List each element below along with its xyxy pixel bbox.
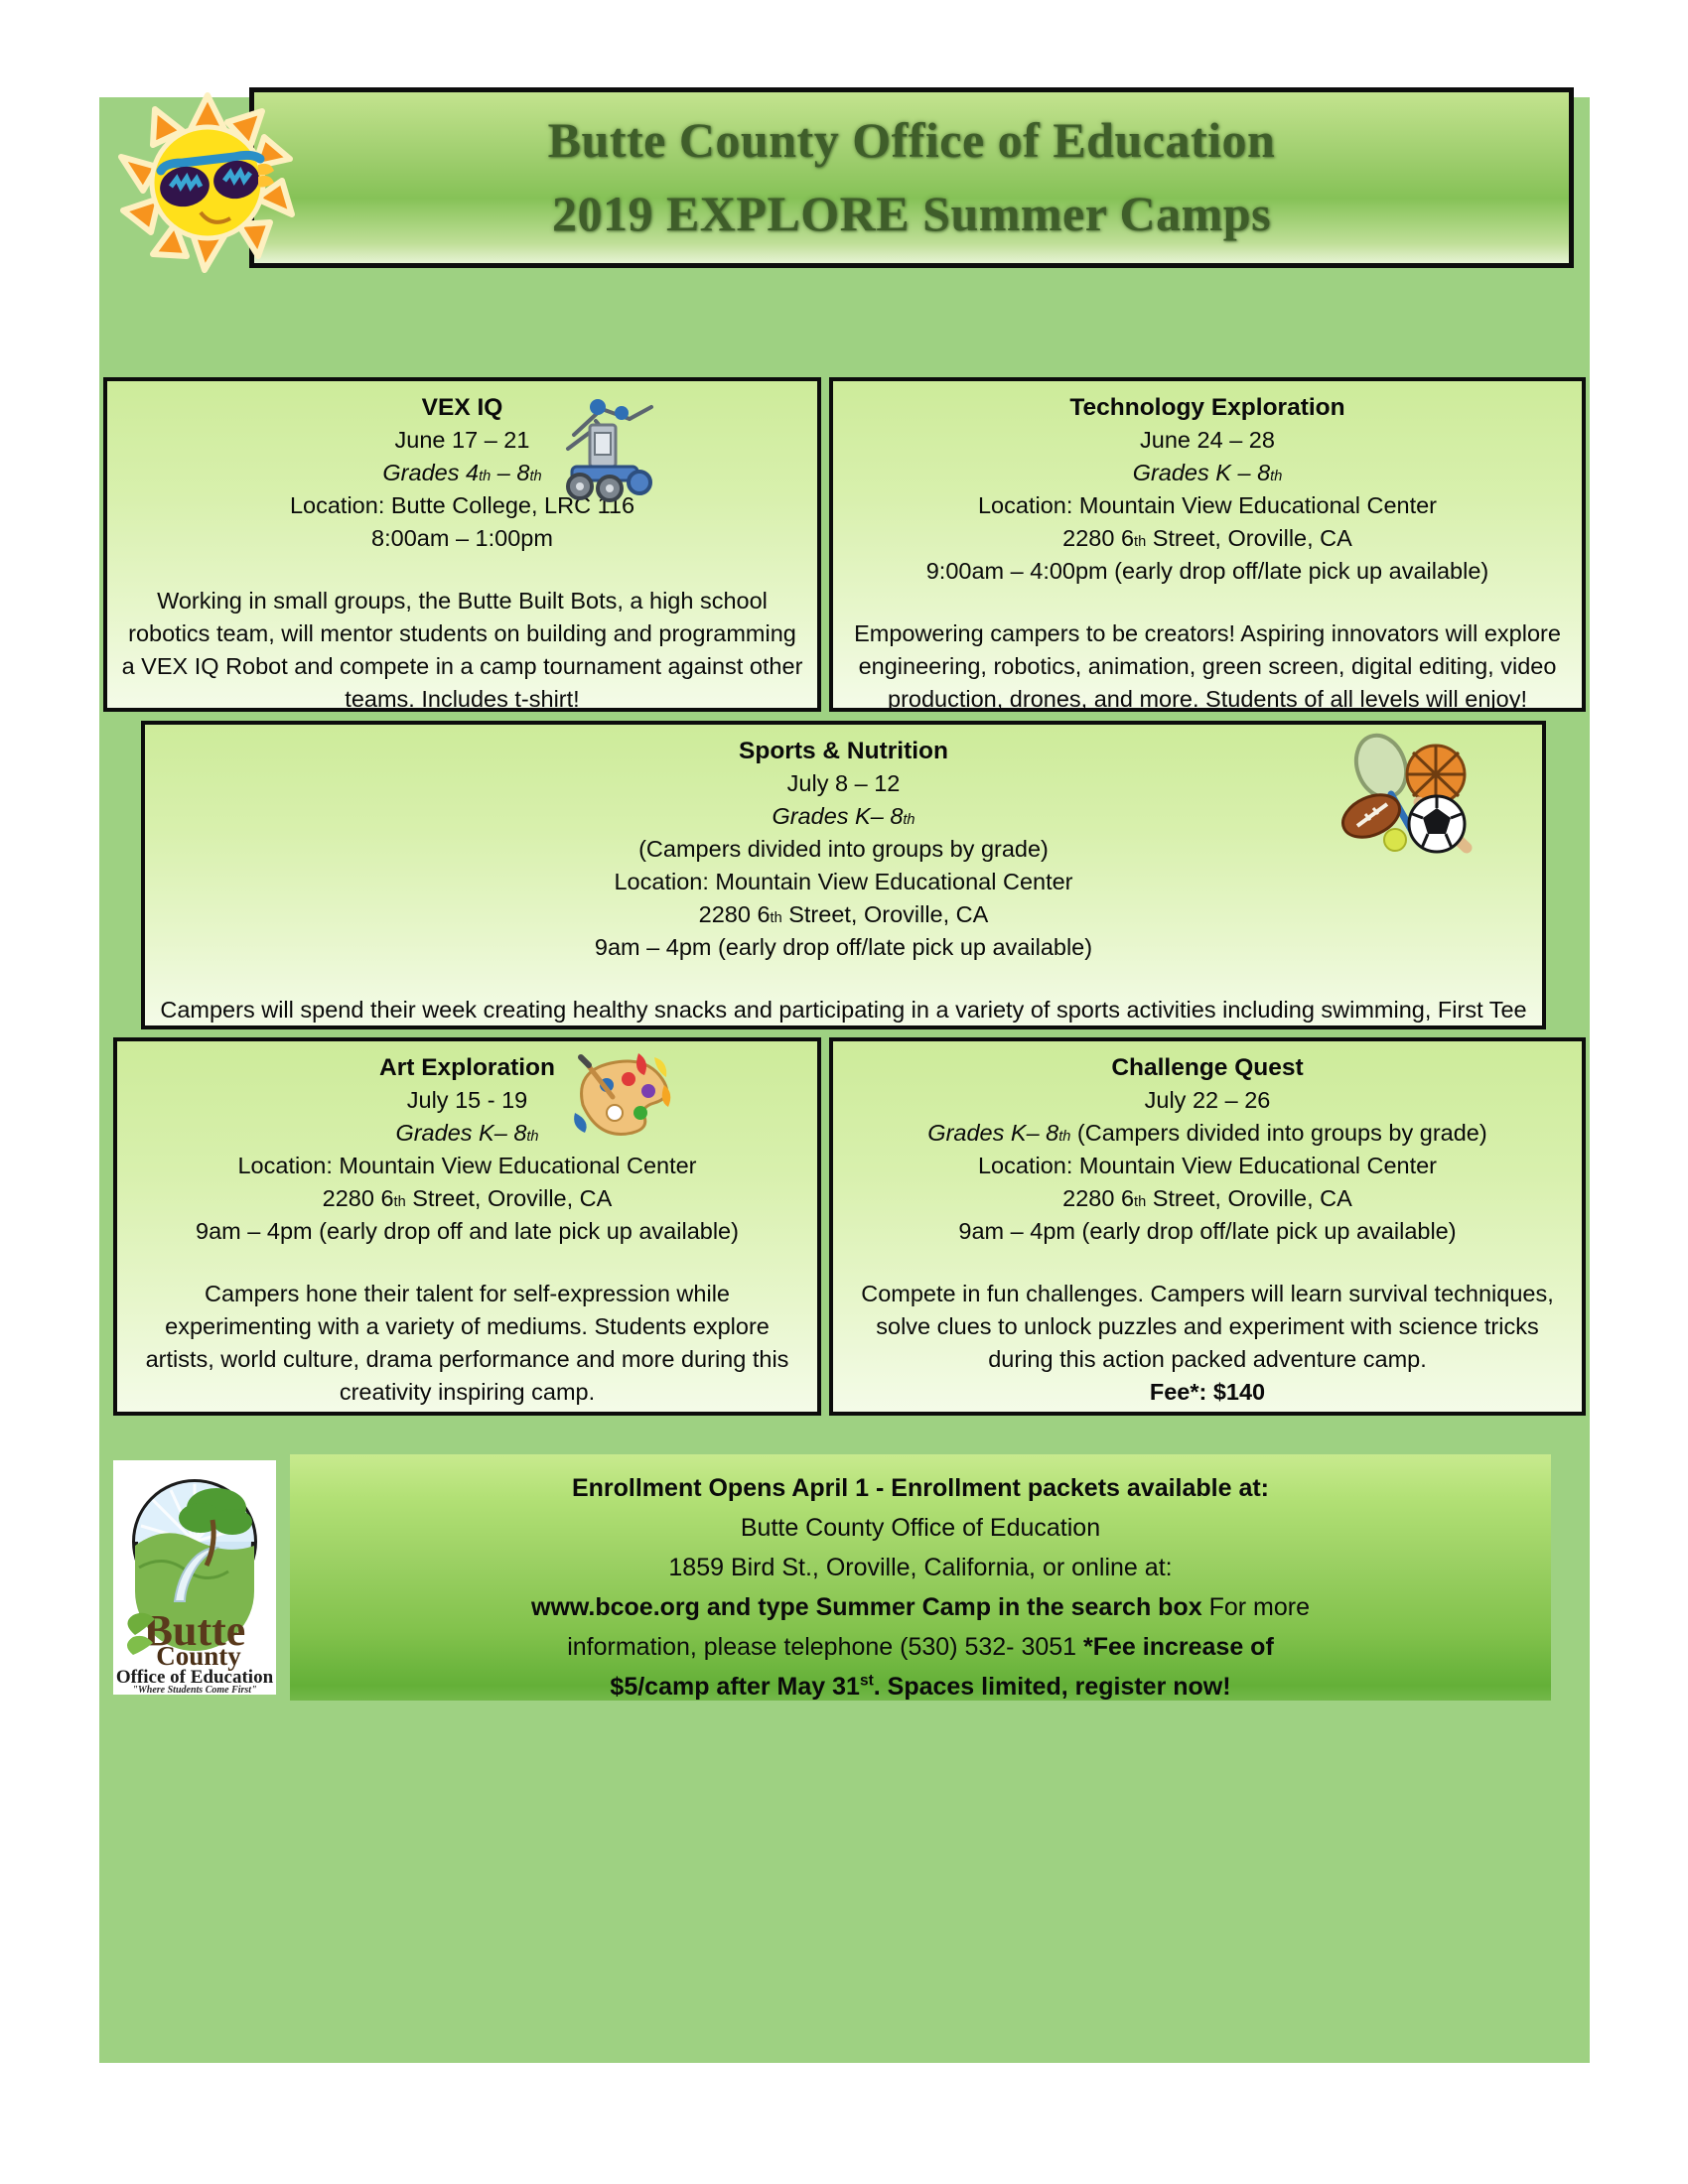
camp-location: Location: Butte College, LRC 116 [121,489,803,522]
grades-prefix: Grades 4 [382,460,479,485]
camp-card-sports-nutrition: Sports & Nutrition July 8 – 12 Grades K–… [141,721,1546,1029]
flyer-title: 2019 EXPLORE Summer Camps [254,184,1569,243]
fee-increase-note: *Fee increase of [1083,1633,1274,1661]
address-suffix: Street, Oroville, CA [782,901,989,927]
org-title: Butte County Office of Education [254,110,1569,170]
camp-title: Challenge Quest [847,1051,1568,1084]
flyer-page: Butte County Office of Education 2019 EX… [99,97,1590,2063]
enrollment-info-box: Enrollment Opens April 1 - Enrollment pa… [290,1454,1551,1701]
grades-prefix: Grades K– 8 [772,803,903,829]
enrollment-org: Butte County Office of Education [290,1508,1551,1548]
grades-ordinal-1: th [526,1129,538,1145]
camp-address: 2280 6th Street, Oroville, CA [131,1182,803,1215]
grades-ordinal-1: th [1058,1129,1070,1145]
camp-time: 9am – 4pm (early drop off and late pick … [131,1215,803,1248]
camp-dates: July 8 – 12 [159,767,1528,800]
sports-balls-icon [1334,733,1482,862]
camp-card-challenge-quest: Challenge Quest July 22 – 26 Grades K– 8… [829,1037,1586,1416]
address-ordinal: th [771,910,782,926]
sun-with-sunglasses-icon [113,87,302,276]
address-suffix: Street, Oroville, CA [406,1185,613,1211]
camp-card-technology-exploration: Technology Exploration June 24 – 28 Grad… [829,377,1586,712]
address-ordinal: th [1134,534,1146,550]
camp-title: VEX IQ [121,391,803,424]
grades-prefix: Grades K– 8 [395,1120,526,1146]
grades-ordinal-1: th [903,812,914,828]
bcoe-tree-seal-icon: Butte County Office of Education "Where … [113,1460,276,1695]
camp-fee: Fee*: $140 [131,1409,803,1416]
camp-card-art-exploration: Art Exploration July 15 - 19 Grades K– 8… [113,1037,821,1416]
camp-time: 9am – 4pm (early drop off/late pick up a… [159,931,1528,964]
camp-description: Compete in fun challenges. Campers will … [847,1278,1568,1376]
camp-dates: June 17 – 21 [121,424,803,457]
logo-tagline: "Where Students Come First" [132,1685,256,1695]
camp-title: Sports & Nutrition [159,735,1528,767]
camp-grades: Grades K– 8th [131,1117,803,1150]
camp-dates: June 24 – 28 [847,424,1568,457]
camp-location: Location: Mountain View Educational Cent… [131,1150,803,1182]
camp-dates: July 15 - 19 [131,1084,803,1117]
camp-title: Art Exploration [131,1051,803,1084]
camp-location: Location: Mountain View Educational Cent… [847,489,1568,522]
address-prefix: 2280 6 [699,901,771,927]
enrollment-website-line: www.bcoe.org and type Summer Camp in the… [290,1587,1551,1627]
deadline-suffix: . Spaces limited, register now! [874,1673,1231,1701]
camp-grouping-note: (Campers divided into groups by grade) [159,833,1528,866]
camp-description: Working in small groups, the Butte Built… [121,585,803,712]
camp-address: 2280 6th Street, Oroville, CA [847,1182,1568,1215]
grades-ordinal-1: th [1270,469,1282,484]
camp-card-vex-iq: VEX IQ June 17 – 21 Grades 4th – 8th Loc… [103,377,821,712]
address-prefix: 2280 6 [323,1185,394,1211]
camp-description: Campers hone their talent for self-expre… [131,1278,803,1409]
camp-time: 9:00am – 4:00pm (early drop off/late pic… [847,555,1568,588]
camp-description: Campers will spend their week creating h… [159,994,1528,1029]
enrollment-headline: Enrollment Opens April 1 - Enrollment pa… [290,1468,1551,1508]
camp-dates: July 22 – 26 [847,1084,1568,1117]
grades-mid: – 8 [491,460,529,485]
camp-title: Technology Exploration [847,391,1568,424]
grades-prefix: Grades K– 8 [927,1120,1058,1146]
deadline-ordinal: st [860,1673,874,1690]
grades-prefix: Grades K – 8 [1133,460,1270,485]
address-ordinal: th [394,1194,406,1210]
camp-address: 2280 6th Street, Oroville, CA [159,898,1528,931]
camp-time: 9am – 4pm (early drop off/late pick up a… [847,1215,1568,1248]
vex-robot-icon [544,391,663,510]
enrollment-website[interactable]: www.bcoe.org and type Summer Camp in the… [531,1593,1202,1621]
camp-grades: Grades 4th – 8th [121,457,803,489]
art-palette-icon [569,1051,678,1151]
grades-ordinal-1: th [479,469,491,484]
camp-grades: Grades K– 8th [159,800,1528,833]
camp-time: 8:00am – 1:00pm [121,522,803,555]
address-prefix: 2280 6 [1062,1185,1134,1211]
header-title-box: Butte County Office of Education 2019 EX… [249,87,1574,268]
camp-location: Location: Mountain View Educational Cent… [159,866,1528,898]
address-prefix: 2280 6 [1062,525,1134,551]
grades-note: (Campers divided into groups by grade) [1070,1120,1486,1146]
grades-ordinal-2: th [529,469,541,484]
enrollment-phone-line: information, please telephone (530) 532-… [290,1627,1551,1667]
camp-description: Empowering campers to be creators! Aspir… [847,617,1568,712]
enrollment-website-suffix: For more [1202,1593,1310,1621]
enrollment-address: 1859 Bird St., Oroville, California, or … [290,1548,1551,1587]
enrollment-deadline-line: $5/camp after May 31st. Spaces limited, … [290,1667,1551,1706]
camp-description-text: Campers will spend their week creating h… [160,997,1526,1029]
camp-address: 2280 6th Street, Oroville, CA [847,522,1568,555]
deadline-prefix: $5/camp after May 31 [610,1673,860,1701]
address-ordinal: th [1134,1194,1146,1210]
camp-fee: Fee*: $140 [847,1376,1568,1409]
enrollment-phone: information, please telephone (530) 532-… [567,1633,1083,1661]
address-suffix: Street, Oroville, CA [1146,525,1352,551]
footer-band: Butte County Office of Education "Where … [99,1444,1590,1792]
address-suffix: Street, Oroville, CA [1146,1185,1352,1211]
header-banner: Butte County Office of Education 2019 EX… [99,97,1590,286]
camp-grades: Grades K– 8th (Campers divided into grou… [847,1117,1568,1150]
camp-grades: Grades K – 8th [847,457,1568,489]
bcoe-logo: Butte County Office of Education "Where … [113,1460,276,1695]
camp-location: Location: Mountain View Educational Cent… [847,1150,1568,1182]
